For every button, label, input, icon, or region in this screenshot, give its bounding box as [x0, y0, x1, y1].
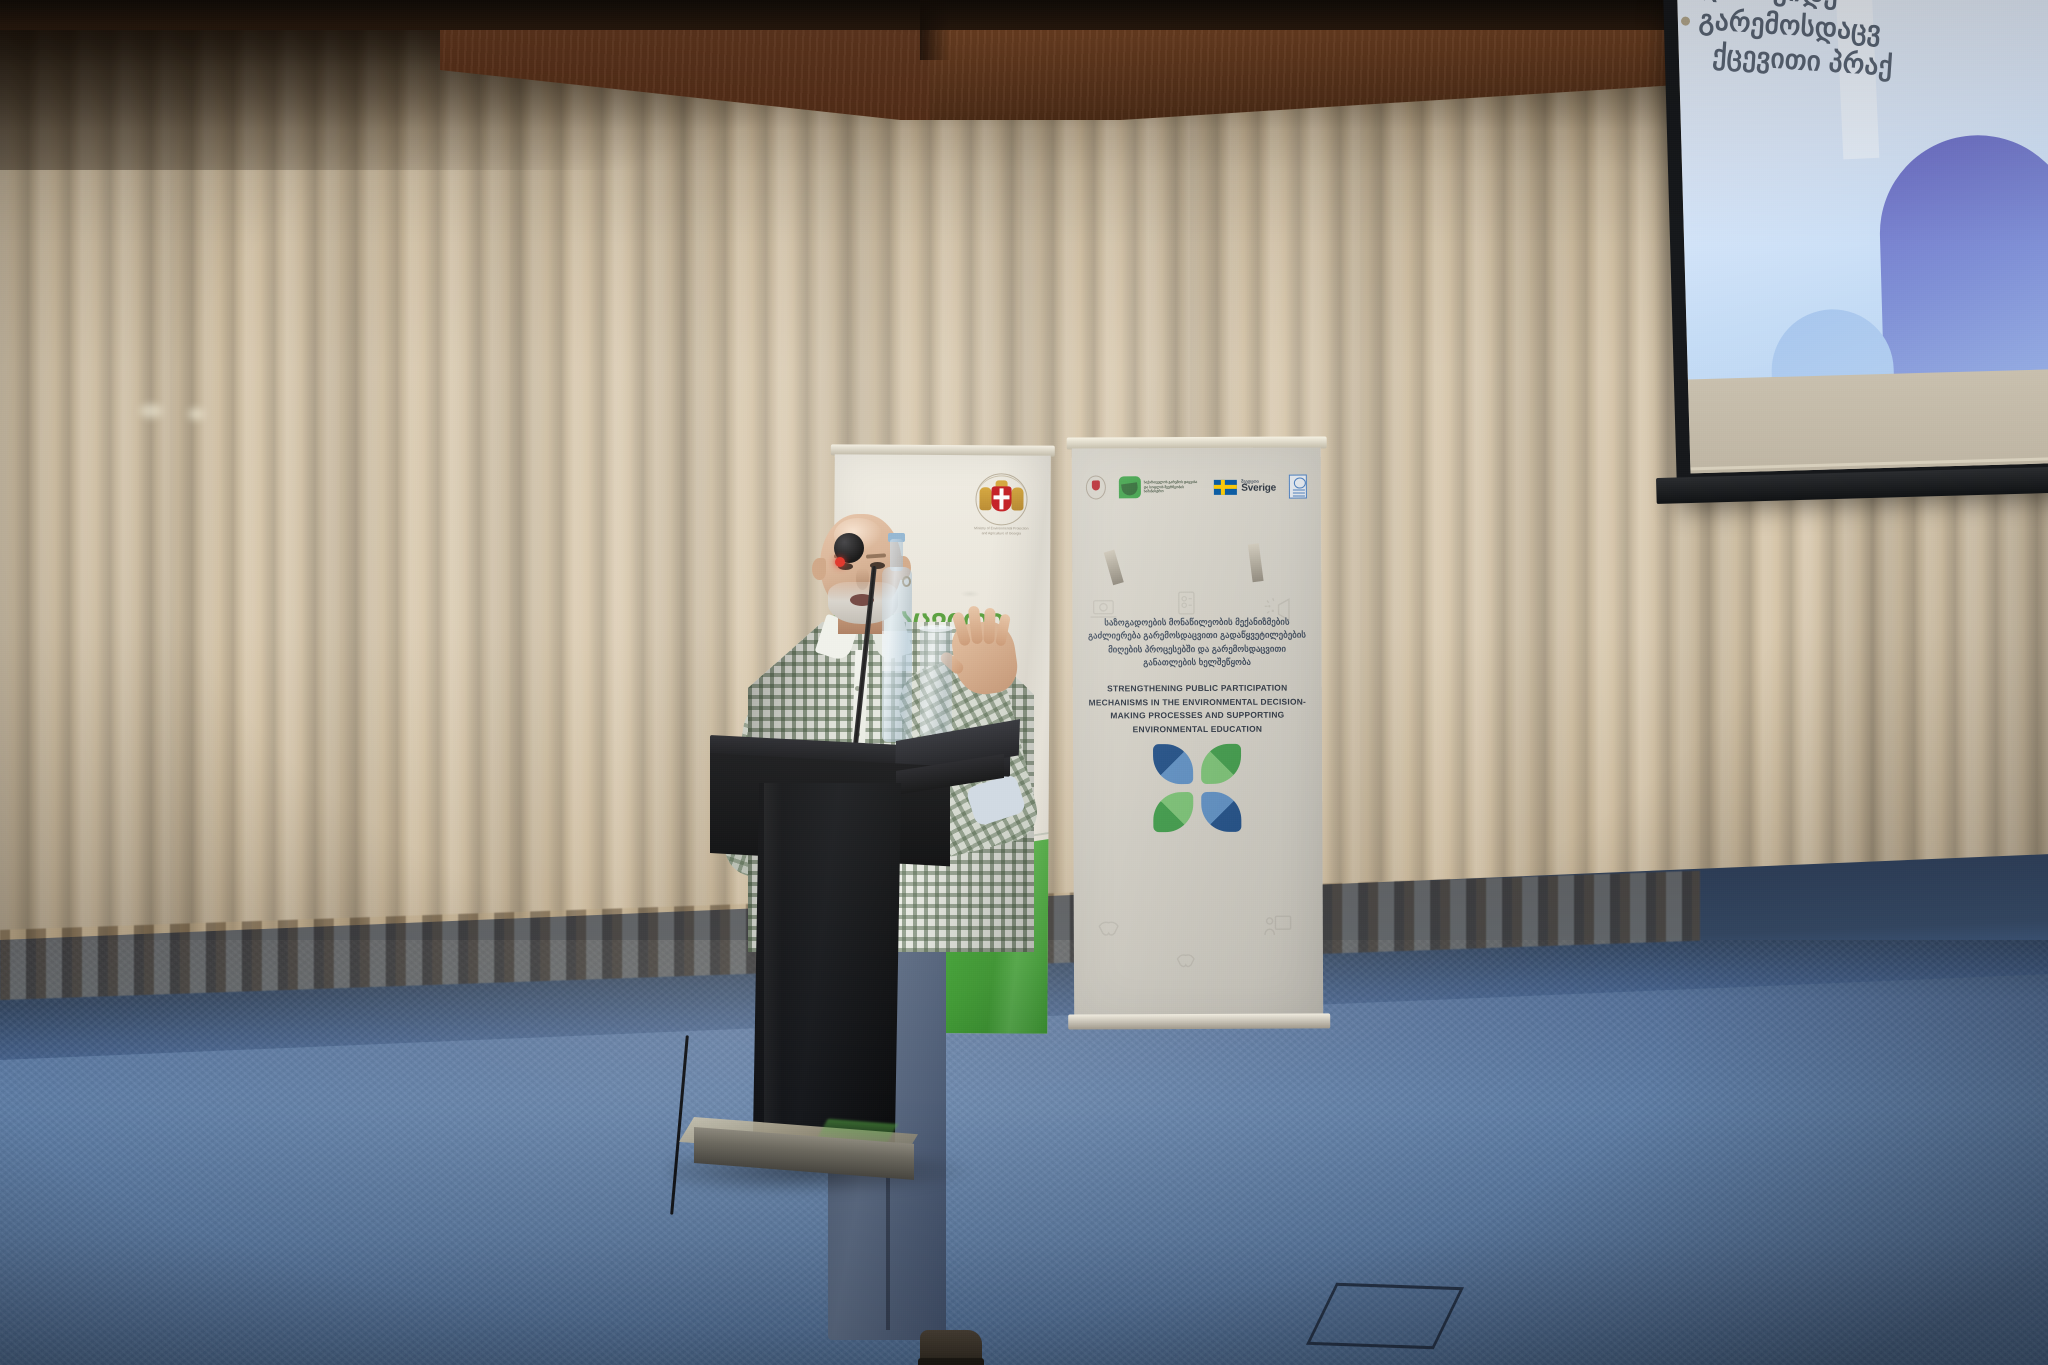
banner-surface: საქართველოს გარემოს დაცვისა და სოფლის მე… [1072, 447, 1323, 1020]
ear-left [812, 558, 826, 580]
podium-column-highlight [764, 783, 782, 1143]
finger [983, 608, 995, 644]
projection-screen: დამოკიდე გარემოსდაცვ ქცევითი პრაქ [1663, 0, 2048, 500]
bottle-label [882, 631, 912, 671]
podium-lectern [710, 735, 1030, 1205]
banner-base-rail [1068, 1013, 1330, 1029]
microphone-led-indicator [835, 557, 845, 567]
screen-unprojected-area [1688, 369, 2048, 473]
ceiling-corner-seam [920, 0, 950, 60]
glass-rim [919, 625, 953, 632]
drinking-glass [920, 627, 952, 739]
conference-room-photo: დამოკიდე გარემოსდაცვ ქცევითი პრაქ [0, 0, 2048, 1365]
slide-arch-shape-small [1770, 308, 1897, 382]
banner-sheen [1072, 447, 1323, 1020]
rollup-banner-project: საქართველოს გარემოს დაცვისა და სოფლის მე… [1072, 447, 1324, 1038]
projected-slide: დამოკიდე გარემოსდაცვ ქცევითი პრაქ [1677, 0, 2048, 381]
slide-arch-shape-large [1877, 133, 2048, 382]
bullet-point-icon [1681, 17, 1691, 27]
shoe-sole [918, 1358, 984, 1365]
screen-surface: დამოკიდე გარემოსდაცვ ქცევითი პრაქ [1677, 0, 2048, 473]
